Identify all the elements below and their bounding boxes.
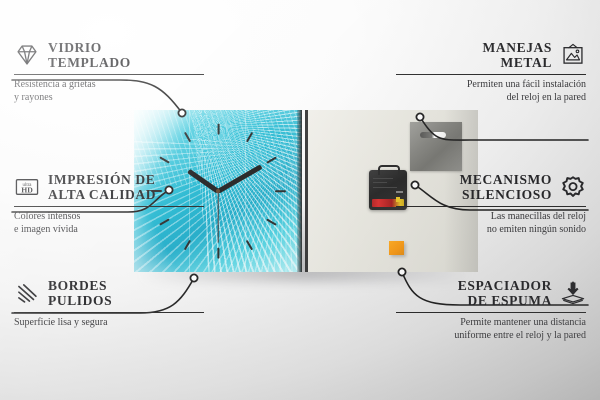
infographic-canvas: VIDRIO TEMPLADO Resistencia a grietas y … <box>0 0 600 400</box>
foam-spacer-icon <box>560 280 586 306</box>
feature-header: MECANISMO SILENCIOSO <box>396 172 586 202</box>
feature-header: BORDES PULIDOS <box>14 278 204 308</box>
clock-tick <box>275 190 286 192</box>
feature-title: ESPACIADOR DE ESPUMA <box>458 278 552 308</box>
glass-edge <box>297 110 302 272</box>
clock-tick <box>217 123 219 134</box>
mechanism-detail-2 <box>373 182 387 183</box>
feature-vidrio-templado: VIDRIO TEMPLADO Resistencia a grietas y … <box>14 40 204 104</box>
back-panel-edge <box>305 110 308 272</box>
feature-header: ultra HD IMPRESIÓN DE ALTA CALIDAD <box>14 172 204 202</box>
feature-divider <box>396 312 586 313</box>
clock-center-pin <box>216 189 220 193</box>
polished-edges-icon <box>14 280 40 306</box>
mechanism-detail-1 <box>373 178 393 179</box>
clock-tick <box>217 247 219 258</box>
gear-icon <box>560 174 586 200</box>
feature-description: Superficie lisa y segura <box>14 317 204 330</box>
wall-frame-icon <box>560 42 586 68</box>
feature-espaciador-espuma: ESPACIADOR DE ESPUMA Permite mantener un… <box>396 278 586 342</box>
diamond-icon <box>14 42 40 68</box>
feature-divider <box>14 312 204 313</box>
feature-title: MECANISMO SILENCIOSO <box>460 172 552 202</box>
feature-divider <box>14 206 204 207</box>
feature-divider <box>14 74 204 75</box>
clock-second-hand <box>217 191 218 243</box>
feature-header: VIDRIO TEMPLADO <box>14 40 204 70</box>
feature-mecanismo-silencioso: MECANISMO SILENCIOSO Las manecillas del … <box>396 172 586 236</box>
feature-description: Resistencia a grietas y rayones <box>14 79 204 104</box>
feature-header: ESPACIADOR DE ESPUMA <box>396 278 586 308</box>
ultra-hd-icon: ultra HD <box>14 174 40 200</box>
feature-description: Las manecillas del reloj no emiten ningú… <box>396 211 586 236</box>
feature-title: VIDRIO TEMPLADO <box>48 40 131 70</box>
feature-manejas-metal: MANEJAS METAL Permiten una fácil instala… <box>396 40 586 104</box>
feature-title: MANEJAS METAL <box>483 40 552 70</box>
feature-title: IMPRESIÓN DE ALTA CALIDAD <box>48 172 156 202</box>
feature-description: Permite mantener una distancia uniforme … <box>396 317 586 342</box>
feature-impresion-alta-calidad: ultra HD IMPRESIÓN DE ALTA CALIDAD Color… <box>14 172 204 236</box>
mechanism-detail-3 <box>373 187 397 188</box>
feature-divider <box>396 74 586 75</box>
feature-description: Permiten una fácil instalación del reloj… <box>396 79 586 104</box>
hanger-slot <box>420 132 446 138</box>
feature-divider <box>396 206 586 207</box>
glass-pane-line-2 <box>245 110 246 272</box>
feature-description: Colores intensos e imagen vívida <box>14 211 204 236</box>
svg-text:HD: HD <box>21 186 33 195</box>
feature-title: BORDES PULIDOS <box>48 278 112 308</box>
foam-spacer <box>389 241 404 255</box>
feature-header: MANEJAS METAL <box>396 40 586 70</box>
feature-bordes-pulidos: BORDES PULIDOS Superficie lisa y segura <box>14 278 204 330</box>
